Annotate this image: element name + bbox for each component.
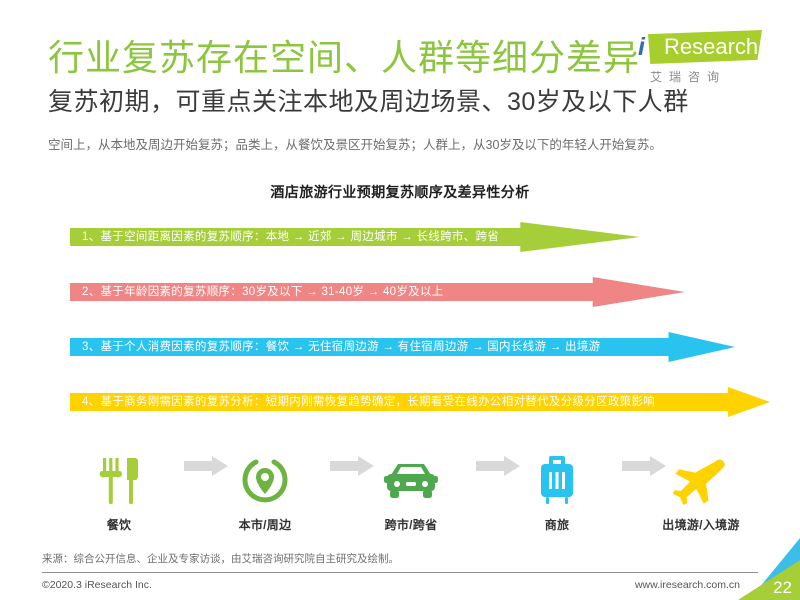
journey-step-intercity: 跨市/跨省: [352, 450, 470, 533]
page-corner-decoration: 22: [738, 538, 800, 600]
arrow-bar-3-label: 3、基于个人消费因素的复苏顺序：餐饮 → 无住宿周边游 → 有住宿周边游 → 国…: [70, 332, 600, 362]
arrow-bar-4-label: 4、基于商务刚需因素的复苏分析：短期内刚需恢复趋势确定，长期看受在线办公相对替代…: [70, 387, 655, 417]
car-icon: [352, 450, 470, 512]
page-description: 空间上，从本地及周边开始复苏；品类上，从餐饮及景区开始复苏；人群上，从30岁及以…: [48, 136, 662, 154]
chart-title: 酒店旅游行业预期复苏顺序及差异性分析: [0, 182, 800, 202]
slide-root: 行业复苏存在空间、人群等细分差异 复苏初期，可重点关注本地及周边场景、30岁及以…: [0, 0, 800, 600]
footer-divider: [42, 572, 758, 573]
page-title: 行业复苏存在空间、人群等细分差异: [48, 36, 640, 80]
logo-chinese-name: 艾瑞咨询: [650, 68, 762, 85]
fork-knife-icon: [60, 450, 178, 512]
arrow-bar-2-label: 2、基于年龄因素的复苏顺序：30岁及以下 → 31-40岁 → 40岁及以上: [70, 277, 444, 307]
journey-icon-row: 餐饮 本市/周边: [60, 450, 760, 542]
iresearch-logo: i Research 艾瑞咨询: [634, 30, 762, 86]
arrow-bar-chart: 1、基于空间距离因素的复苏顺序：本地 → 近郊 → 周边城市 → 长线跨市、跨省…: [70, 222, 770, 418]
journey-step-international: 出境游/入境游: [642, 450, 760, 533]
arrow-bar-4: 4、基于商务刚需因素的复苏分析：短期内刚需恢复趋势确定，长期看受在线办公相对替代…: [70, 387, 770, 417]
suitcase-icon: [498, 450, 616, 512]
journey-step-business-travel: 商旅: [498, 450, 616, 533]
journey-step-dining: 餐饮: [60, 450, 178, 533]
arrow-bar-1: 1、基于空间距离因素的复苏顺序：本地 → 近郊 → 周边城市 → 长线跨市、跨省: [70, 222, 640, 252]
journey-step-label: 出境游/入境游: [642, 516, 760, 533]
source-note: 来源：综合公开信息、企业及专家访谈，由艾瑞咨询研究院自主研究及绘制。: [42, 551, 399, 566]
copyright-text: ©2020.3 iResearch Inc.: [42, 579, 152, 591]
journey-step-label: 跨市/跨省: [352, 516, 470, 533]
airplane-icon: [642, 450, 760, 512]
website-url: www.iresearch.com.cn: [635, 579, 740, 591]
journey-step-local: 本市/周边: [206, 450, 324, 533]
location-pin-icon: [206, 450, 324, 512]
arrow-bar-1-label: 1、基于空间距离因素的复苏顺序：本地 → 近郊 → 周边城市 → 长线跨市、跨省: [70, 222, 499, 252]
logo-wordmark: Research: [664, 34, 758, 60]
journey-step-label: 本市/周边: [206, 516, 324, 533]
page-subtitle: 复苏初期，可重点关注本地及周边场景、30岁及以下人群: [48, 86, 689, 118]
arrow-bar-2: 2、基于年龄因素的复苏顺序：30岁及以下 → 31-40岁 → 40岁及以上: [70, 277, 685, 307]
logo-i-letter: i: [638, 34, 645, 60]
journey-step-label: 商旅: [498, 516, 616, 533]
journey-step-label: 餐饮: [60, 516, 178, 533]
page-number: 22: [773, 578, 792, 598]
arrow-bar-3: 3、基于个人消费因素的复苏顺序：餐饮 → 无住宿周边游 → 有住宿周边游 → 国…: [70, 332, 735, 362]
